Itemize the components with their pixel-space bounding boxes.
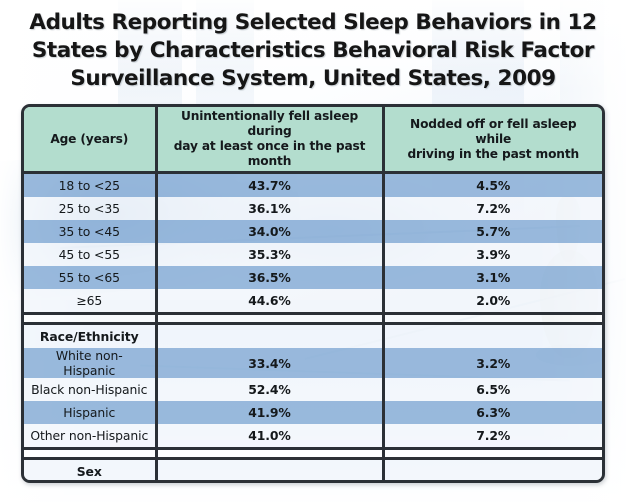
row-label: 35 to <45 [24, 220, 156, 243]
cell-asleep-driving: 2.0% [383, 289, 602, 314]
section-spacer [383, 324, 602, 349]
row-label: Black non-Hispanic [24, 378, 156, 401]
table-row: Other non-Hispanic 41.0% 7.2% [24, 424, 602, 449]
column-header-asleep-driving: Nodded off or fell asleep while driving … [383, 107, 602, 173]
cell-asleep-driving: 5.7% [383, 220, 602, 243]
cell-fell-asleep-day: 44.6% [156, 289, 383, 314]
column-header-asleep-driving-line-1: Nodded off or fell asleep while [410, 117, 576, 146]
table-row: White non-Hispanic 33.4% 3.2% [24, 348, 602, 378]
table-header: Age (years) Unintentionally fell asleep … [24, 107, 602, 173]
row-label: 55 to <65 [24, 266, 156, 289]
cell-asleep-driving: 3.2% [383, 348, 602, 378]
column-header-fell-asleep-day-line-2: day at least once in the past month [174, 139, 366, 168]
section-separator [24, 314, 602, 324]
cell-asleep-driving: 3.1% [383, 266, 602, 289]
cell-fell-asleep-day: 36.5% [156, 266, 383, 289]
column-header-age-line-1: Age (years) [50, 132, 128, 146]
row-label: 25 to <35 [24, 197, 156, 220]
page-title: Adults Reporting Selected Sleep Behavior… [0, 9, 626, 93]
row-label: White non-Hispanic [24, 348, 156, 378]
column-header-fell-asleep-day: Unintentionally fell asleep during day a… [156, 107, 383, 173]
section-header-sex: Sex [24, 459, 602, 484]
cell-fell-asleep-day: 33.4% [156, 348, 383, 378]
section-label: Race/Ethnicity [24, 324, 156, 349]
data-table-container: Age (years) Unintentionally fell asleep … [21, 104, 605, 483]
cell-fell-asleep-day: 41.0% [156, 424, 383, 449]
page-title-line-2: States by Characteristics Behavioral Ris… [0, 37, 626, 65]
page-title-line-3: Surveillance System, United States, 2009 [0, 65, 626, 93]
section-spacer [156, 459, 383, 484]
table-row: 18 to <25 43.7% 4.5% [24, 173, 602, 198]
cell-fell-asleep-day: 41.9% [156, 401, 383, 424]
cell-fell-asleep-day: 34.0% [156, 220, 383, 243]
sleep-behaviors-table: Age (years) Unintentionally fell asleep … [24, 107, 602, 483]
row-label: Other non-Hispanic [24, 424, 156, 449]
cell-fell-asleep-day: 36.1% [156, 197, 383, 220]
cell-asleep-driving: 7.2% [383, 197, 602, 220]
row-label: ≥65 [24, 289, 156, 314]
cell-asleep-driving: 7.2% [383, 424, 602, 449]
table-row: ≥65 44.6% 2.0% [24, 289, 602, 314]
cell-fell-asleep-day: 35.3% [156, 243, 383, 266]
table-row: 35 to <45 34.0% 5.7% [24, 220, 602, 243]
column-header-asleep-driving-line-2: driving in the past month [407, 147, 579, 161]
row-label: Hispanic [24, 401, 156, 424]
table-header-row: Age (years) Unintentionally fell asleep … [24, 107, 602, 173]
section-spacer [156, 324, 383, 349]
page-title-line-1: Adults Reporting Selected Sleep Behavior… [0, 9, 626, 37]
section-spacer [383, 459, 602, 484]
column-header-age: Age (years) [24, 107, 156, 173]
cell-asleep-driving: 6.3% [383, 401, 602, 424]
table-row: Black non-Hispanic 52.4% 6.5% [24, 378, 602, 401]
cell-fell-asleep-day: 43.7% [156, 173, 383, 198]
table-body: 18 to <25 43.7% 4.5% 25 to <35 36.1% 7.2… [24, 173, 602, 484]
cell-asleep-driving: 4.5% [383, 173, 602, 198]
cell-fell-asleep-day: 52.4% [156, 378, 383, 401]
column-header-fell-asleep-day-line-1: Unintentionally fell asleep during [181, 109, 358, 138]
section-separator [24, 449, 602, 459]
cell-asleep-driving: 3.9% [383, 243, 602, 266]
row-label: 45 to <55 [24, 243, 156, 266]
table-row: 45 to <55 35.3% 3.9% [24, 243, 602, 266]
section-label: Sex [24, 459, 156, 484]
table-row: Hispanic 41.9% 6.3% [24, 401, 602, 424]
table-row: 55 to <65 36.5% 3.1% [24, 266, 602, 289]
table-row: 25 to <35 36.1% 7.2% [24, 197, 602, 220]
row-label: 18 to <25 [24, 173, 156, 198]
section-header-race-ethnicity: Race/Ethnicity [24, 324, 602, 349]
cell-asleep-driving: 6.5% [383, 378, 602, 401]
